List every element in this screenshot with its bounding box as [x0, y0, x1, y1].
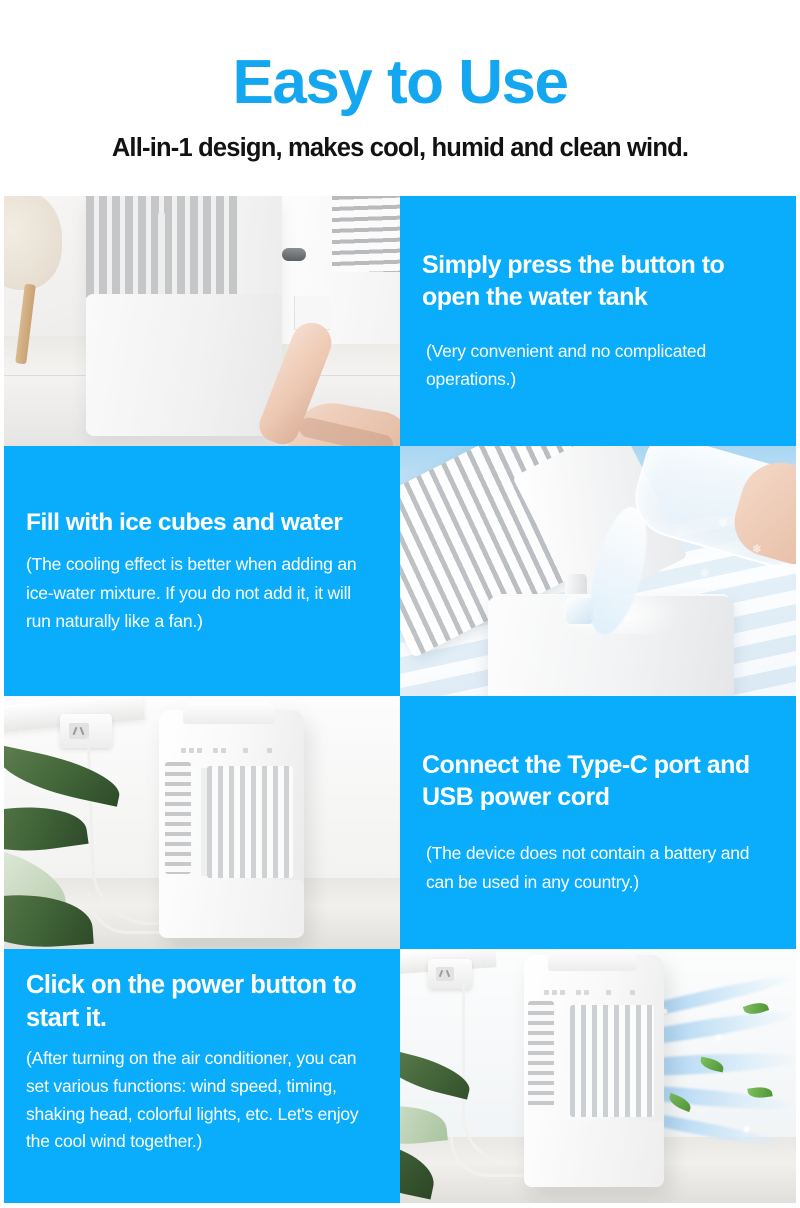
control-indicator [584, 990, 589, 995]
front-grille [570, 1005, 654, 1117]
page-title: Easy to Use [0, 0, 800, 114]
step-1-panel: Simply press the button to open the wate… [400, 196, 796, 446]
snowflake-icon: ❄ [752, 542, 762, 556]
step-2-photo: ❄ ❄ ❄ [400, 446, 796, 696]
snowflake-icon: ❄ [700, 566, 710, 580]
front-grille [207, 766, 293, 878]
control-indicator [544, 990, 549, 995]
air-cooler-unit [524, 955, 664, 1187]
outlet-socket-icon [436, 967, 454, 981]
mode-button-icon [267, 748, 272, 753]
control-indicator [221, 748, 226, 753]
water-tank-section [159, 880, 304, 938]
step-3-panel: Connect the Type-C port and USB power co… [400, 696, 796, 949]
step-4-heading: Click on the power button to start it. [26, 969, 378, 1035]
step-2-note: (The cooling effect is better when addin… [26, 550, 378, 635]
step-1-note: (Very convenient and no complicated oper… [422, 337, 774, 394]
step-4-panel: Click on the power button to start it. (… [4, 949, 400, 1203]
chair-shape [4, 196, 62, 290]
house-plant [4, 758, 140, 949]
control-indicator [213, 748, 218, 753]
cooler-vane [158, 212, 165, 300]
carry-handle [183, 702, 275, 724]
control-indicator [197, 748, 202, 753]
control-indicator [576, 990, 581, 995]
step-1-heading: Simply press the button to open the wate… [422, 249, 774, 313]
power-button-icon [243, 748, 248, 753]
control-panel [540, 981, 648, 1005]
mode-button-icon [630, 990, 635, 995]
air-cooler-unit [159, 710, 304, 938]
tank-release-knob-icon [282, 248, 306, 261]
steps-grid: Simply press the button to open the wate… [4, 196, 796, 1203]
plant-leaf [400, 1139, 440, 1200]
page-subtitle: All-in-1 design, makes cool, humid and c… [0, 114, 800, 163]
control-indicator [560, 990, 565, 995]
water-tank-section [524, 1121, 664, 1187]
power-button-icon [606, 990, 611, 995]
step-3-note: (The device does not contain a battery a… [422, 839, 774, 896]
side-air-vent [165, 762, 191, 874]
bottom-edge [0, 1203, 800, 1208]
side-air-vent [528, 1001, 554, 1111]
cooler-side-vents [332, 196, 400, 272]
step-1-photo [4, 196, 400, 446]
carry-handle [548, 949, 636, 971]
plant-leaf [4, 890, 94, 949]
control-panel [177, 738, 287, 764]
house-plant [400, 1059, 490, 1203]
plant-leaf [400, 1100, 448, 1149]
control-indicator [181, 748, 186, 753]
step-2-panel: Fill with ice cubes and water (The cooli… [4, 446, 400, 696]
page-header: Easy to Use All-in-1 design, makes cool,… [0, 0, 800, 196]
step-3-photo [4, 696, 400, 949]
control-indicator [552, 990, 557, 995]
plant-leaf [4, 798, 89, 860]
step-3-heading: Connect the Type-C port and USB power co… [422, 749, 774, 813]
product-feature-page: Easy to Use All-in-1 design, makes cool,… [0, 0, 800, 1208]
air-cooler-unit [86, 196, 282, 436]
pointing-hand [268, 286, 400, 446]
step-4-photo [400, 949, 796, 1203]
snowflake-icon: ❄ [718, 516, 728, 530]
sparkle-icon [744, 1127, 749, 1132]
sparkle-icon [716, 1035, 721, 1040]
control-indicator [189, 748, 194, 753]
cooler-water-tank [86, 294, 282, 436]
step-4-note: (After turning on the air conditioner, y… [26, 1045, 378, 1156]
step-2-heading: Fill with ice cubes and water [26, 507, 378, 538]
